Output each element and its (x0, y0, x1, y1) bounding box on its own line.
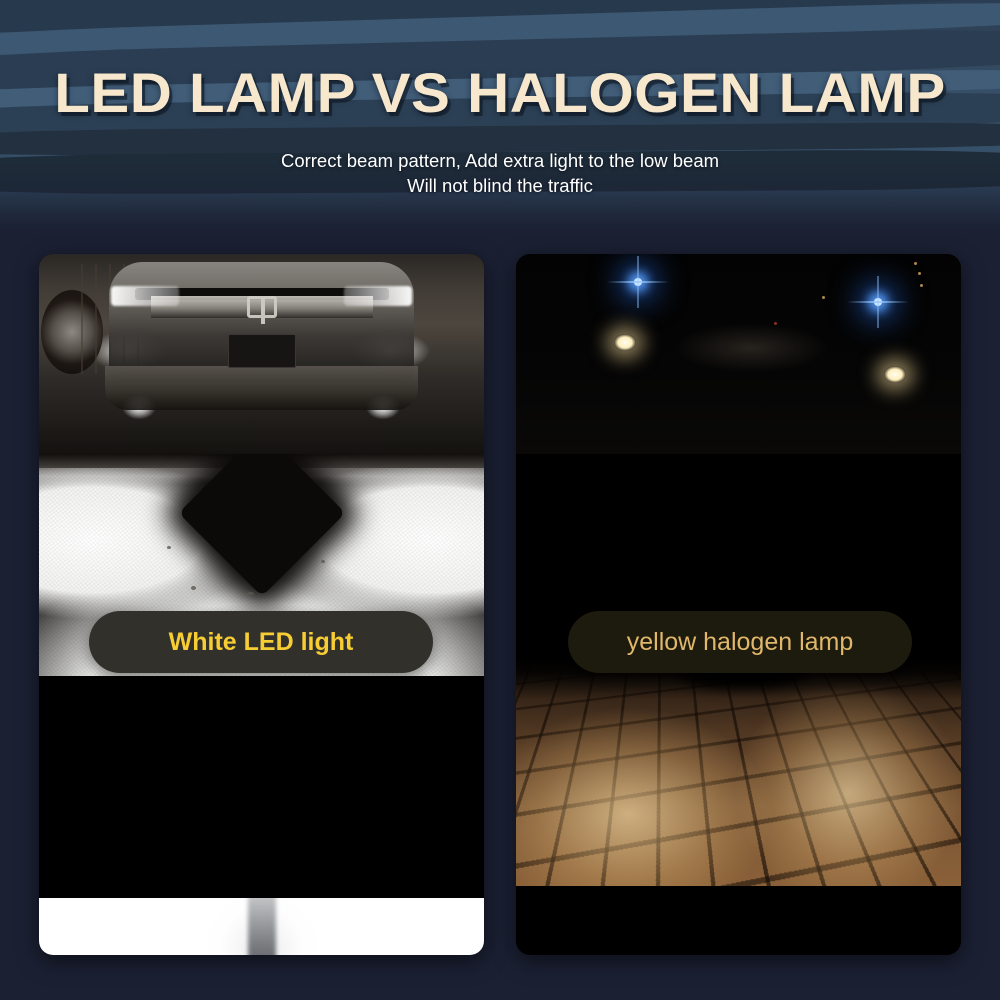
car-bumper (105, 366, 418, 410)
headlight-right (344, 286, 412, 306)
comparison-panels (0, 254, 1000, 956)
halogen-car-night-photo (516, 254, 961, 454)
led-car-photo (39, 254, 484, 454)
halogen-label-pill: yellow halogen lamp (568, 611, 912, 673)
blue-accent-light-left (634, 278, 642, 286)
halogen-beam-brick-photo (516, 654, 961, 886)
blue-accent-light-right (874, 298, 882, 306)
honda-emblem-icon (247, 296, 277, 318)
page-title: LED LAMP VS HALOGEN LAMP (0, 60, 1000, 125)
led-bulb-shaft (248, 898, 276, 955)
led-label-pill: White LED light (89, 611, 433, 673)
license-plate (228, 334, 296, 368)
led-bulb-photo (39, 898, 484, 955)
halogen-label-text: yellow halogen lamp (627, 628, 854, 657)
page-subtitle: Correct beam pattern, Add extra light to… (0, 148, 1000, 198)
led-label-text: White LED light (169, 628, 354, 657)
halogen-comparison-panel (516, 254, 961, 955)
car-grille-silhouette (676, 324, 826, 372)
halogen-headlight-right (884, 366, 906, 383)
led-comparison-panel (39, 254, 484, 955)
headlight-left (111, 286, 179, 306)
halogen-headlight-left (614, 334, 636, 351)
subtitle-line-2: Will not blind the traffic (0, 173, 1000, 198)
subtitle-line-1: Correct beam pattern, Add extra light to… (281, 150, 719, 171)
